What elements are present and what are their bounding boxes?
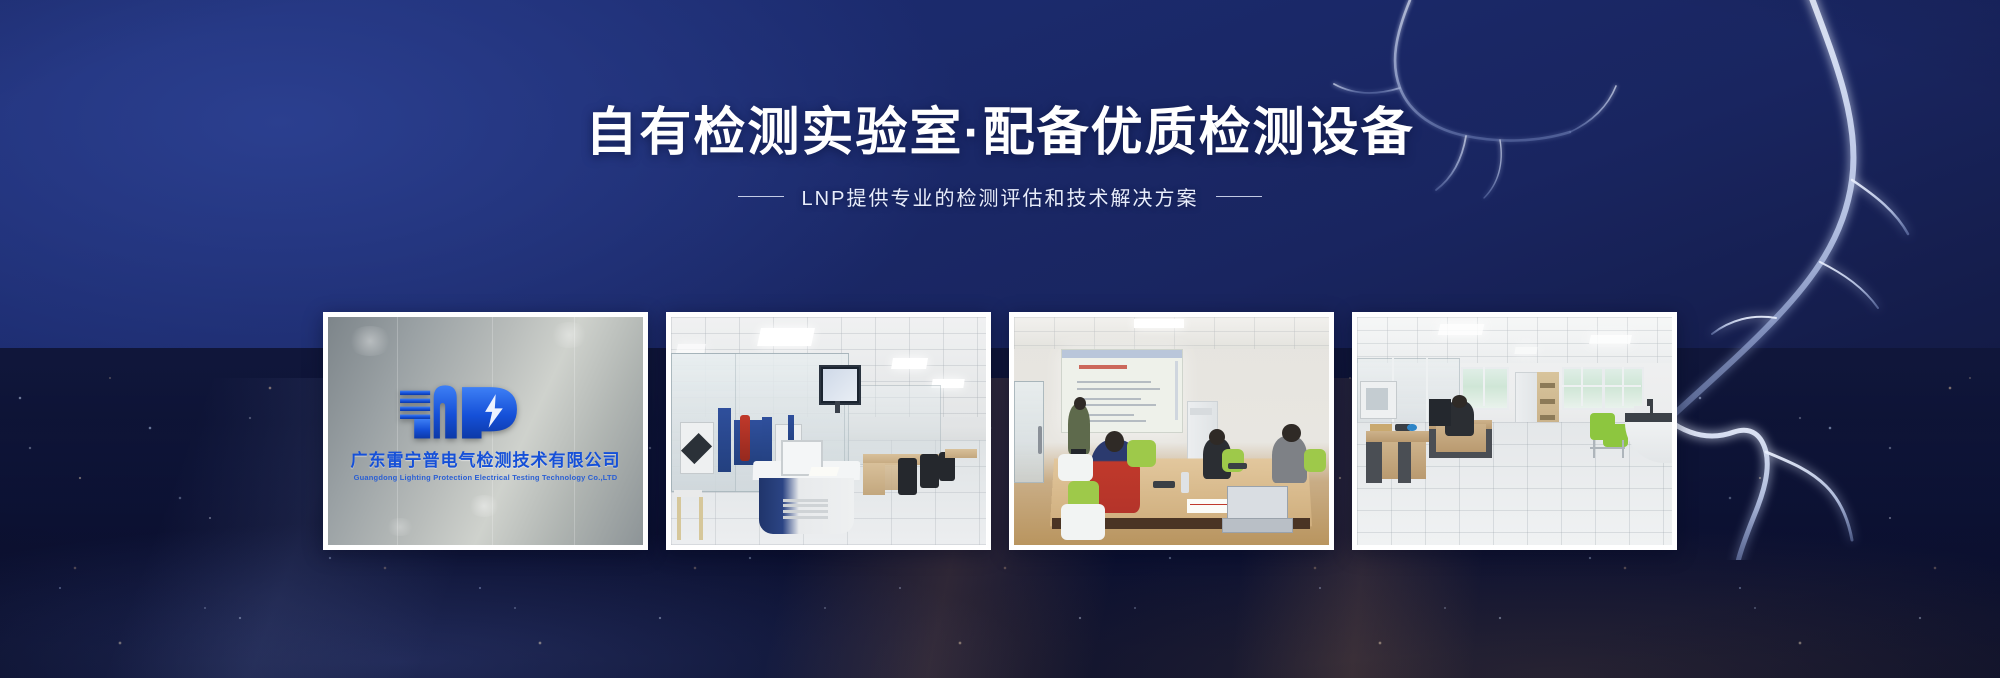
banner-headline: 自有检测实验室·配备优质检测设备: [0, 104, 2000, 164]
gallery-photo-testing-laboratory[interactable]: [666, 312, 991, 550]
rule-right-icon: [1216, 196, 1262, 197]
headline-block: 自有检测实验室·配备优质检测设备 LNP提供专业的检测评估和技术解决方案: [0, 104, 2000, 211]
rule-left-icon: [738, 196, 784, 197]
banner-subheadline: LNP提供专业的检测评估和技术解决方案: [802, 182, 1199, 211]
hero-banner: 自有检测实验室·配备优质检测设备 LNP提供专业的检测评估和技术解决方案: [0, 0, 2000, 678]
gallery-photo-office-area[interactable]: [1352, 312, 1677, 550]
photo-gallery: 广东雷宁普电气检测技术有限公司 Guangdong Lighting Prote…: [323, 312, 1677, 550]
banner-subheadline-row: LNP提供专业的检测评估和技术解决方案: [0, 182, 2000, 211]
photo-image-laboratory: [671, 317, 986, 545]
gallery-photo-training-meeting-room[interactable]: [1009, 312, 1334, 550]
company-name-en: Guangdong Lighting Protection Electrical…: [328, 473, 643, 482]
company-name-cn: 广东雷宁普电气检测技术有限公司: [328, 446, 643, 471]
photo-image-logo-wall: 广东雷宁普电气检测技术有限公司 Guangdong Lighting Prote…: [328, 317, 643, 545]
photo-image-office: [1357, 317, 1672, 545]
company-logo: 广东雷宁普电气检测技术有限公司 Guangdong Lighting Prote…: [328, 380, 643, 482]
photo-image-meeting-room: [1014, 317, 1329, 545]
gallery-photo-company-logo-wall[interactable]: 广东雷宁普电气检测技术有限公司 Guangdong Lighting Prote…: [323, 312, 648, 550]
lnp-logo-mark: [328, 380, 643, 442]
